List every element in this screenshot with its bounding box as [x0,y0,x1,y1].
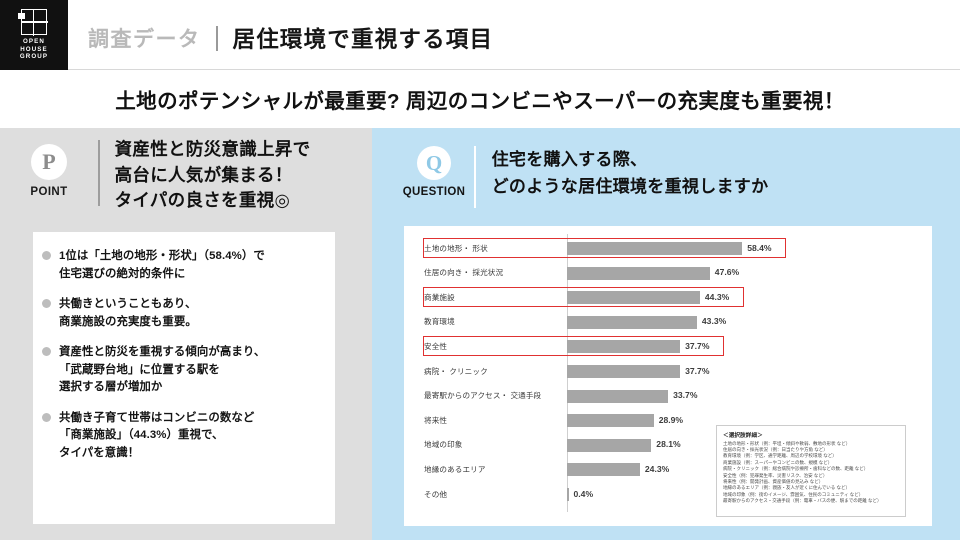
point-header: P POINT 資産性と防災意識上昇で 高台に人気が集まる！ タイパの良さを重視… [0,128,372,220]
question-badge-label: QUESTION [403,186,465,198]
bar-category-label: 安全性 [424,341,447,352]
logo-flag-icon [18,13,25,19]
bar-category-label: 地域の印象 [424,439,462,450]
bar-value-label: 37.7% [685,341,709,351]
footnote-title: ＜選択肢詳細＞ [723,431,899,439]
bar-category-label: 住居の向き・ 採光状況 [424,267,503,278]
bar-value-label: 28.9% [659,415,683,425]
header-title-separator [216,26,218,51]
subtitle: 土地のポテンシャルが最重要? 周辺のコンビニやスーパーの充実度も重要視！ [0,84,960,114]
bar-fill [567,390,668,403]
point-badge-letter: P [31,144,67,180]
point-item-line: 資産性と防災を重視する傾向が高まり、 [59,344,325,362]
question-badge-letter: Q [417,146,451,180]
bar-chart: 土地の地形・ 形状58.4%住居の向き・ 採光状況47.6%商業施設44.3%教… [404,226,932,526]
bar-category-label: その他 [424,489,447,500]
bar-fill [567,291,700,304]
point-item-line: 共働きということもあり、 [59,296,325,314]
footnote-line: 最寄駅からのアクセス・交通手段（例：電車・バスの便、駅までの距離 など） [723,498,899,504]
bar-category-label: 病院・ クリニック [424,366,488,377]
logo: OPEN HOUSE GROUP [0,0,68,70]
bar-category-label: 最寄駅からのアクセス・ 交通手段 [424,390,541,401]
bar-value-label: 44.3% [705,292,729,302]
bar-category-label: 商業施設 [424,292,455,303]
header: OPEN HOUSE GROUP 調査データ 居住環境で重視する項目 [0,0,960,70]
bar-category-label: 土地の地形・ 形状 [424,243,488,254]
bar-fill [567,439,651,452]
header-kicker: 調査データ [88,23,201,53]
bar-row: 安全性37.7% [404,334,932,358]
point-headline-line-2: 高台に人気が集まる！ [115,163,311,189]
bar-row: 病院・ クリニック37.7% [404,359,932,383]
bar-fill [567,414,654,427]
bar-row: 教育環境43.3% [404,310,932,334]
bar-fill [567,267,710,280]
bullet-icon [42,299,51,308]
logo-line-2: HOUSE [20,46,48,54]
bar-row: 土地の地形・ 形状58.4% [404,236,932,260]
bullet-icon [42,413,51,422]
question-badge: Q QUESTION [394,142,474,198]
bullet-icon [42,251,51,260]
logo-wordmark: OPEN HOUSE GROUP [20,38,48,61]
bar-fill [567,340,680,353]
point-headline-line-3: タイパの良さを重視◎ [115,188,311,214]
bar-fill [567,463,640,476]
point-item-line: 住宅選びの絶対的条件に [59,266,325,284]
bar-category-label: 地縁のあるエリア [424,464,486,475]
question-headline-line-1: 住宅を購入する際、 [492,146,769,173]
page-title: 居住環境で重視する項目 [233,22,494,54]
question-header: Q QUESTION 住宅を購入する際、 どのような居住環境を重視しますか [394,142,768,208]
point-headline: 資産性と防災意識上昇で 高台に人気が集まる！ タイパの良さを重視◎ [100,128,311,214]
footnote-box: ＜選択肢詳細＞ 土地の地形・形状（例：平坦・傾斜や軟弱、敷地の形状 など）住居の… [716,425,906,517]
bullet-icon [42,347,51,356]
bar-category-label: 教育環境 [424,316,455,327]
bar-value-label: 47.6% [715,267,739,277]
point-item-line: 「武蔵野台地」に位置する駅を [59,362,325,380]
bar-value-label: 58.4% [747,243,771,253]
point-item-line: 選択する層が増加か [59,379,325,397]
list-item: 共働き子育て世帯はコンビニの数など 「商業施設」（44.3%）重視で、 タイパを… [33,410,335,463]
point-item-line: 「商業施設」（44.3%）重視で、 [59,427,325,445]
slide-root: OPEN HOUSE GROUP 調査データ 居住環境で重視する項目 土地のポテ… [0,0,960,540]
bar-row: 住居の向き・ 採光状況47.6% [404,261,932,285]
list-item: 共働きということもあり、 商業施設の充実度も重要。 [33,296,335,331]
logo-line-1: OPEN [20,38,48,46]
logo-line-3: GROUP [20,53,48,61]
header-title-row: 調査データ 居住環境で重視する項目 [88,22,493,54]
point-badge-label: POINT [30,186,67,198]
bar-row: 商業施設44.3% [404,285,932,309]
question-headline-line-2: どのような居住環境を重視しますか [492,173,769,200]
point-badge: P POINT [0,128,98,198]
open-house-building-icon [21,9,47,35]
bar-value-label: 43.3% [702,316,726,326]
point-item-line: 1位は「土地の地形・形状」（58.4%）で [59,248,325,266]
list-item: 資産性と防災を重視する傾向が高まり、 「武蔵野台地」に位置する駅を 選択する層が… [33,344,335,397]
bar-fill [567,242,742,255]
footnote-list: 土地の地形・形状（例：平坦・傾斜や軟弱、敷地の形状 など）住居の向き・採光状況（… [723,441,899,505]
point-panel: P POINT 資産性と防災意識上昇で 高台に人気が集まる！ タイパの良さを重視… [0,128,372,540]
point-item-line: 商業施設の充実度も重要。 [59,314,325,332]
point-headline-line-1: 資産性と防災意識上昇で [115,137,311,163]
bar-value-label: 0.4% [574,489,594,499]
bar-value-label: 37.7% [685,366,709,376]
bar-fill [567,316,697,329]
point-item-line: タイパを意識！ [59,445,325,463]
bar-value-label: 28.1% [656,439,680,449]
question-headline: 住宅を購入する際、 どのような居住環境を重視しますか [476,142,769,200]
bar-category-label: 将来性 [424,415,447,426]
point-item-line: 共働き子育て世帯はコンビニの数など [59,410,325,428]
bar-fill [567,365,680,378]
bar-fill [567,488,569,501]
list-item: 1位は「土地の地形・形状」（58.4%）で 住宅選びの絶対的条件に [33,248,335,283]
header-divider-rule [68,69,960,70]
chart-card: 土地の地形・ 形状58.4%住居の向き・ 採光状況47.6%商業施設44.3%教… [404,226,932,526]
point-list-card: 1位は「土地の地形・形状」（58.4%）で 住宅選びの絶対的条件に 共働きという… [33,232,335,524]
bar-value-label: 24.3% [645,464,669,474]
bar-value-label: 33.7% [673,390,697,400]
bar-row: 最寄駅からのアクセス・ 交通手段33.7% [404,384,932,408]
